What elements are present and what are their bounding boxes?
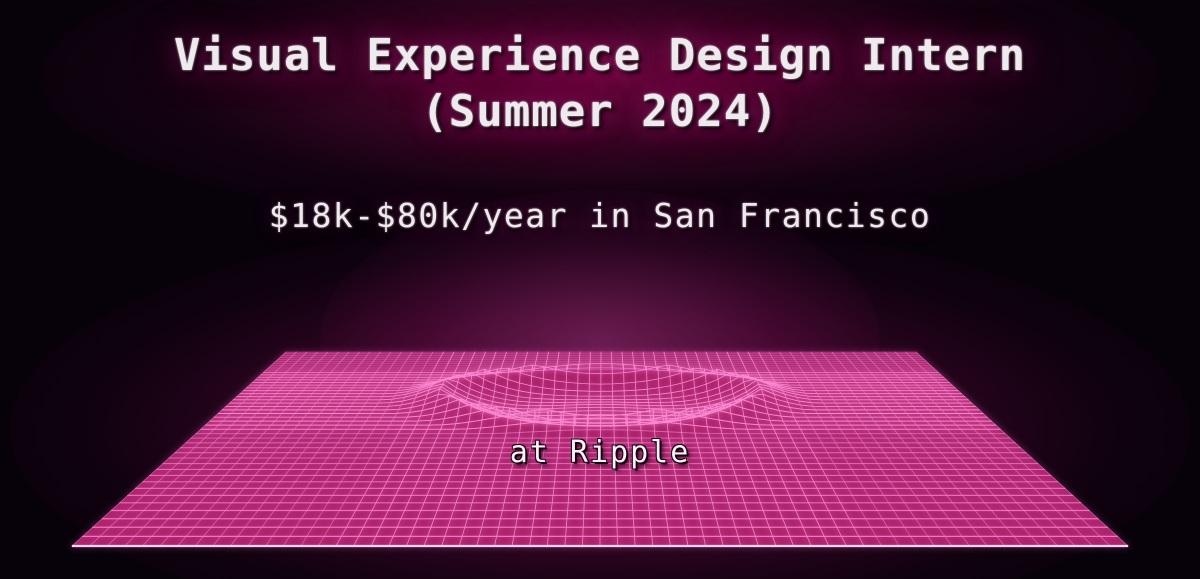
- page-title: Visual Experience Design Intern (Summer …: [0, 28, 1200, 141]
- salary-location-subtitle: $18k-$80k/year in San Francisco: [0, 196, 1200, 235]
- company-label: at Ripple: [0, 435, 1200, 470]
- job-posting-poster: Visual Experience Design Intern (Summer …: [0, 0, 1200, 579]
